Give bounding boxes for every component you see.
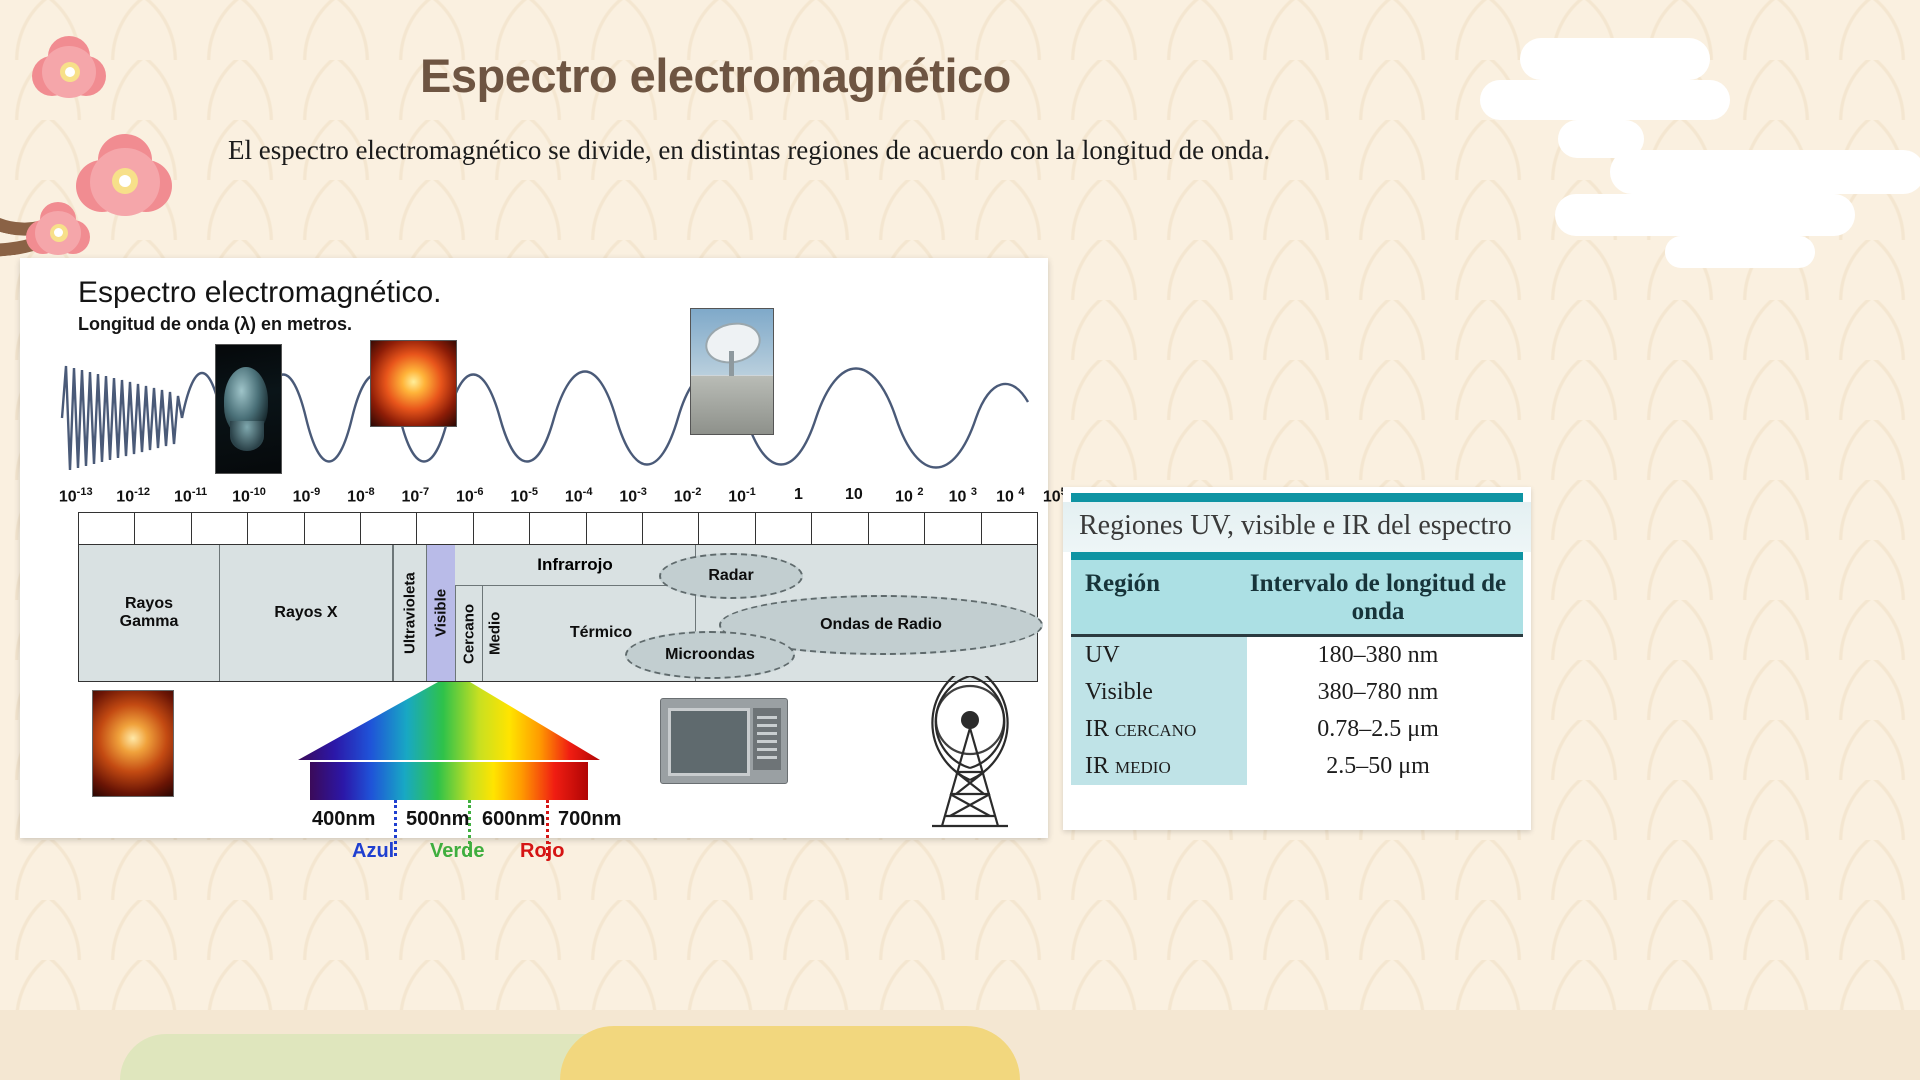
table-cell-interval: 380–780 nm xyxy=(1247,674,1523,711)
blossom-icon xyxy=(26,202,90,266)
axis-box xyxy=(361,513,417,545)
table-cell-interval: 180–380 nm xyxy=(1247,637,1523,674)
radio-dish-image xyxy=(690,308,774,435)
wave-illustration xyxy=(60,346,1030,491)
band-label: Cercano xyxy=(460,603,477,663)
axis-tick: 10-5 xyxy=(510,486,538,506)
cherry-blossom-decoration xyxy=(0,30,200,290)
band-label: Infrarrojo xyxy=(537,555,613,575)
axis-box xyxy=(135,513,191,545)
axis-box xyxy=(79,513,135,545)
diagram-title: Espectro electromagnético. xyxy=(78,276,442,310)
table-cell-region: Visible xyxy=(1071,674,1247,711)
color-label-rojo: Rojo xyxy=(520,840,564,863)
axis-tick: 10 xyxy=(845,486,863,504)
table-cell-interval: 2.5–50 μm xyxy=(1247,748,1523,785)
table-row: IR medio 2.5–50 μm xyxy=(1071,748,1523,785)
band-label: Ultravioleta xyxy=(401,572,418,654)
cloud-decoration-icon xyxy=(1555,150,1920,268)
color-label-azul: Azul xyxy=(352,840,394,863)
prism-fan-illustration xyxy=(298,682,600,772)
cloud-decoration-icon xyxy=(1480,38,1780,158)
xray-skull-image xyxy=(215,344,282,474)
table-cell-interval: 0.78–2.5 μm xyxy=(1247,711,1523,748)
band-infrarrojo: Infrarrojo xyxy=(455,545,695,586)
axis-tick: 10-8 xyxy=(347,486,375,506)
axis-box xyxy=(869,513,925,545)
axis-box xyxy=(417,513,473,545)
regions-table: Regiones UV, visible e IR del espectro R… xyxy=(1063,487,1531,830)
axis-tick: 10-6 xyxy=(456,486,484,506)
axis-box xyxy=(812,513,868,545)
axis-tick: 10 4 xyxy=(996,486,1024,506)
blossom-icon xyxy=(76,134,172,230)
table-cell-region: IR cercano xyxy=(1071,711,1247,748)
axis-box xyxy=(699,513,755,545)
plasma-ball-image xyxy=(92,690,174,797)
band-cercano: Cercano xyxy=(455,586,482,681)
axis-tick: 10-11 xyxy=(174,486,207,506)
ellipse-microondas: Microondas xyxy=(625,631,795,679)
axis-tick: 10 3 xyxy=(949,486,977,506)
table-header-row: Región Intervalo de longitud de onda xyxy=(1071,560,1523,634)
axis-tick: 10-1 xyxy=(728,486,756,506)
axis-tick: 10-2 xyxy=(674,486,702,506)
axis-tick: 10-3 xyxy=(619,486,647,506)
axis-tick: 10-12 xyxy=(116,486,150,506)
spectrum-diagram-panel: Espectro electromagnético. Longitud de o… xyxy=(20,258,1048,838)
wavelength-label-700: 700nm xyxy=(558,808,621,831)
diagram-subtitle: Longitud de onda (λ) en metros. xyxy=(78,314,352,335)
microwave-oven-image xyxy=(660,698,788,784)
wavelength-axis: 10-13 10-12 10-11 10-10 10-9 10-8 10-7 1… xyxy=(50,486,1040,512)
blossom-icon xyxy=(32,36,106,110)
table-top-rule xyxy=(1071,493,1523,502)
band-label: Medio xyxy=(486,612,503,655)
axis-tick: 10-10 xyxy=(232,486,266,506)
background-yellow-hill xyxy=(560,1026,1020,1080)
band-ultravioleta: Ultravioleta xyxy=(393,545,426,681)
axis-box xyxy=(248,513,304,545)
wavelength-label-500: 500nm xyxy=(406,808,469,831)
band-label: RayosGamma xyxy=(120,595,179,632)
ellipse-label: Radar xyxy=(708,567,753,585)
table-row: UV 180–380 nm xyxy=(1071,637,1523,674)
band-visible: Visible xyxy=(426,545,455,681)
table-title: Regiones UV, visible e IR del espectro xyxy=(1063,502,1531,552)
axis-tick: 1 xyxy=(794,486,803,504)
table-row: IR cercano 0.78–2.5 μm xyxy=(1071,711,1523,748)
table-cell-region: UV xyxy=(1071,637,1247,674)
ellipse-label: Ondas de Radio xyxy=(820,616,942,634)
axis-box xyxy=(643,513,699,545)
body-paragraph: El espectro electromagnético se divide, … xyxy=(228,132,1400,168)
axis-tick: 10 2 xyxy=(895,486,923,506)
color-label-verde: Verde xyxy=(430,840,484,863)
band-label: Visible xyxy=(432,589,449,637)
table-header-region: Región xyxy=(1071,560,1247,634)
table-row: Visible 380–780 nm xyxy=(1071,674,1523,711)
band-medio: Medio xyxy=(482,586,507,681)
band-rayos-gamma: RayosGamma xyxy=(79,545,220,681)
axis-box xyxy=(925,513,981,545)
axis-box xyxy=(305,513,361,545)
spectrum-band-strip: RayosGamma Rayos X Ultravioleta Visible … xyxy=(78,544,1038,682)
axis-tick: 10-7 xyxy=(402,486,430,506)
table-header-interval: Intervalo de longitud de onda xyxy=(1247,560,1523,634)
ellipse-radar: Radar xyxy=(659,553,803,599)
sun-image xyxy=(370,340,457,427)
ellipse-label: Microondas xyxy=(665,646,755,664)
azul-guide-line xyxy=(394,800,397,856)
table-cell-region: IR medio xyxy=(1071,748,1247,785)
band-label: Rayos X xyxy=(274,604,337,622)
axis-box xyxy=(587,513,643,545)
radio-tower-image xyxy=(882,676,1058,828)
axis-box xyxy=(530,513,586,545)
page-title: Espectro electromagnético xyxy=(420,48,1420,103)
wavelength-label-600: 600nm xyxy=(482,808,545,831)
table-mid-rule xyxy=(1071,552,1523,560)
axis-box-row xyxy=(78,512,1038,546)
visible-spectrum-bar xyxy=(310,762,588,800)
band-label: Térmico xyxy=(570,624,632,642)
axis-box xyxy=(474,513,530,545)
band-rayos-x: Rayos X xyxy=(220,545,393,681)
axis-tick: 10-4 xyxy=(565,486,593,506)
axis-tick: 10-13 xyxy=(59,486,93,506)
axis-tick: 10-9 xyxy=(293,486,321,506)
axis-box xyxy=(192,513,248,545)
table-title-text: Regiones UV, visible e IR del espectro xyxy=(1079,510,1512,541)
axis-box xyxy=(756,513,812,545)
wavelength-label-400: 400nm xyxy=(312,808,375,831)
axis-box xyxy=(982,513,1037,545)
